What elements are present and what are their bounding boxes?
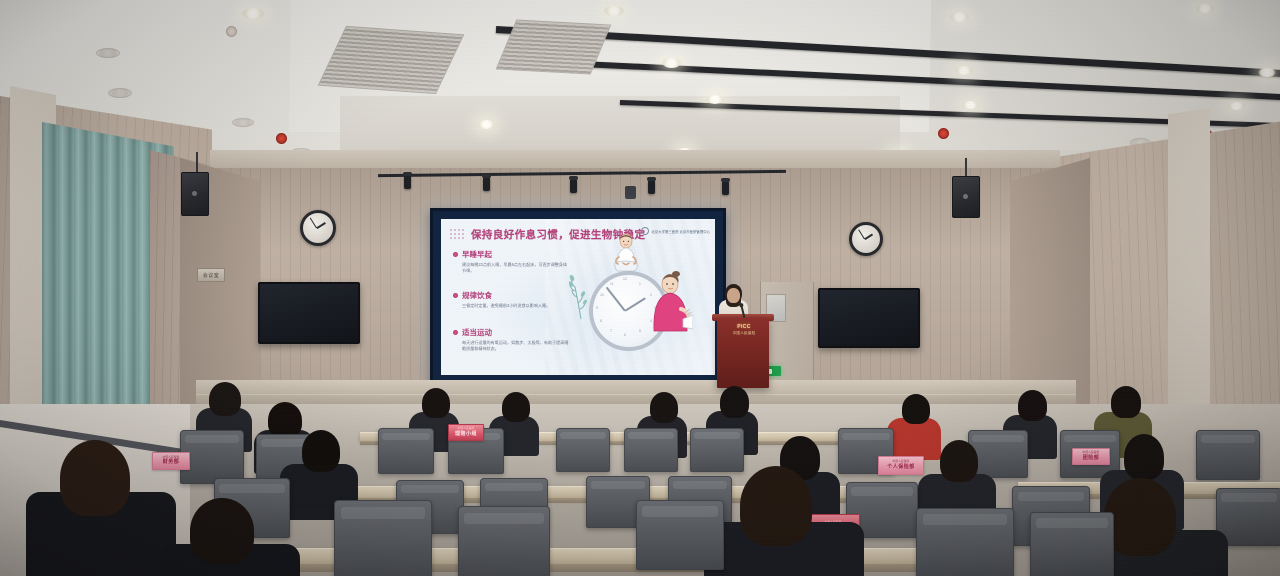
bullet-marker-icon bbox=[453, 293, 458, 298]
ceiling-downlight bbox=[1196, 4, 1214, 13]
slide-bullet-3: 适当运动 每天进行适量的有氧运动，如散步、太极等，有助于提高睡眠质量和精神状态。 bbox=[453, 327, 570, 353]
clock-numeral: 12 bbox=[623, 277, 627, 281]
smoke-detector-icon bbox=[226, 26, 237, 37]
air-vent-icon bbox=[496, 19, 612, 74]
projector-mount bbox=[625, 186, 636, 199]
right-wall-clock bbox=[849, 222, 883, 256]
slide-reading-person-illustration bbox=[649, 269, 693, 341]
chair[interactable] bbox=[334, 500, 432, 576]
speaker-mount bbox=[965, 158, 967, 178]
clock-numeral: 11 bbox=[610, 282, 614, 286]
ceiling-downlight bbox=[662, 58, 681, 68]
table-name-card: 中国人民保险 团险部 bbox=[1072, 448, 1110, 465]
ceiling-downlight bbox=[604, 6, 624, 16]
clock-hour-hand bbox=[864, 234, 872, 240]
ceiling-downlight bbox=[706, 95, 724, 104]
fire-alarm-icon bbox=[276, 133, 287, 144]
right-side-display bbox=[818, 288, 920, 348]
room-sign-left: 会议室 bbox=[197, 268, 225, 282]
ceiling-downlight bbox=[1228, 102, 1245, 110]
speaker-mount bbox=[196, 152, 198, 174]
track-spotlight bbox=[722, 181, 729, 195]
slide-content: 保持良好作息习惯，促进生物钟稳定 北京大学第三医院 北京市医院管理中心 早睡早起… bbox=[441, 219, 715, 375]
clock-numeral: 6 bbox=[624, 333, 626, 337]
chair[interactable] bbox=[690, 428, 744, 472]
chair[interactable] bbox=[458, 506, 550, 576]
chair[interactable] bbox=[1030, 512, 1114, 576]
chair[interactable] bbox=[624, 428, 678, 472]
clock-numeral: 5 bbox=[639, 329, 641, 333]
podium-subbrand-text: 中国人民保险 bbox=[722, 331, 766, 336]
name-card-label: 理赔小组 bbox=[455, 432, 477, 437]
logo-ring-icon bbox=[641, 227, 649, 235]
chair[interactable] bbox=[556, 428, 610, 472]
chair[interactable] bbox=[636, 500, 724, 570]
left-side-display bbox=[258, 282, 360, 344]
chair[interactable] bbox=[1196, 430, 1260, 480]
ceiling-fixture bbox=[96, 48, 120, 58]
illustration-minute-hand bbox=[606, 287, 626, 312]
slide-dot-grid-decoration bbox=[449, 228, 466, 241]
slide-plant-illustration bbox=[569, 275, 591, 319]
slide-org-logo: 北京大学第三医院 北京市医院管理中心 bbox=[641, 227, 710, 235]
clock-minute-hand bbox=[310, 218, 317, 229]
bullet-heading-text: 适当运动 bbox=[462, 327, 492, 338]
ceiling-fixture bbox=[232, 118, 254, 127]
clock-numeral: 10 bbox=[600, 293, 604, 297]
ceiling-fixture bbox=[108, 88, 132, 98]
bullet-heading: 规律饮食 bbox=[453, 290, 550, 301]
slide-bullet-2: 规律饮食 三餐定时定量，避免睡前2小时进食以影响入睡。 bbox=[453, 290, 550, 309]
name-card-label: 客服部 bbox=[1062, 448, 1066, 452]
clock-numeral: 7 bbox=[610, 329, 612, 333]
clock-numeral: 1 bbox=[639, 282, 641, 286]
left-wall-clock bbox=[300, 210, 336, 246]
bullet-heading: 适当运动 bbox=[453, 327, 570, 338]
slide-meditating-person-illustration bbox=[611, 233, 641, 275]
bullet-body-text: 建议每晚22点前入睡，早晨6点左右起床，可逐步调整身体节律。 bbox=[462, 262, 570, 275]
table-name-card: 中国人民保险 财务部 bbox=[152, 452, 190, 470]
bullet-body-text: 三餐定时定量，避免睡前2小时进食以影响入睡。 bbox=[462, 303, 550, 309]
ceiling-downlight bbox=[242, 8, 264, 19]
bullet-heading-text: 规律饮食 bbox=[462, 290, 492, 301]
track-spotlight bbox=[404, 175, 411, 189]
conference-hall-photo: 会议室 保持良好作息习惯，促进生物钟稳定 北京大学第三医院 北京市医院管理中心 bbox=[0, 0, 1280, 576]
clock-numeral: 8 bbox=[600, 319, 602, 323]
track-spotlight bbox=[648, 180, 655, 194]
bullet-marker-icon bbox=[453, 252, 458, 257]
bullet-marker-icon bbox=[453, 330, 458, 335]
ceiling-downlight bbox=[478, 120, 495, 129]
led-presentation-screen: 保持良好作息习惯，促进生物钟稳定 北京大学第三医院 北京市医院管理中心 早睡早起… bbox=[430, 208, 726, 386]
fire-alarm-icon bbox=[938, 128, 949, 139]
bullet-heading: 早睡早起 bbox=[453, 249, 570, 260]
name-card-label: 财务部 bbox=[163, 460, 180, 465]
ceiling-downlight bbox=[950, 12, 969, 22]
chair[interactable] bbox=[916, 508, 1014, 576]
illustration-hour-hand bbox=[625, 297, 647, 312]
presenter-head bbox=[727, 288, 740, 303]
chair[interactable] bbox=[378, 428, 434, 474]
ceiling-downlight bbox=[955, 66, 973, 75]
bullet-body-text: 每天进行适量的有氧运动，如散步、太极等，有助于提高睡眠质量和精神状态。 bbox=[462, 340, 570, 353]
table-name-card: 中国人民保险 理赔小组 bbox=[448, 424, 484, 441]
track-spotlight bbox=[570, 179, 577, 193]
podium-brand-text: PICC bbox=[727, 324, 761, 330]
bullet-heading-text: 早睡早起 bbox=[462, 249, 492, 260]
slide-logo-text: 北京大学第三医院 北京市医院管理中心 bbox=[651, 229, 710, 234]
slide-bullet-1: 早睡早起 建议每晚22点前入睡，早晨6点左右起床，可逐步调整身体节律。 bbox=[453, 249, 570, 275]
name-card-label: 个人保险部 bbox=[887, 465, 915, 470]
track-spotlight bbox=[483, 177, 490, 191]
ceiling-downlight bbox=[962, 101, 979, 109]
clock-numeral: 9 bbox=[596, 306, 598, 310]
clock-hour-hand bbox=[316, 222, 325, 229]
wall-speaker-left bbox=[181, 172, 209, 216]
ceiling-downlight bbox=[1258, 68, 1276, 77]
clock-minute-hand bbox=[858, 229, 865, 239]
name-card-label: 团险部 bbox=[1083, 456, 1100, 461]
wall-speaker-right bbox=[952, 176, 980, 218]
table-name-card: 中国人民保险 个人保险部 bbox=[878, 456, 924, 475]
